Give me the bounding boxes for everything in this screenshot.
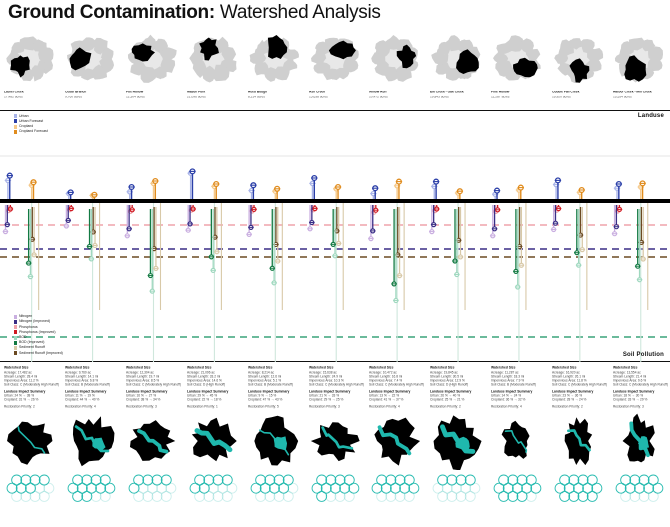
watershed-shape-cell[interactable] [183,412,244,470]
watershed-shape-cell[interactable] [305,412,366,470]
infographic-root: Ground Contamination: Watershed Analysis… [0,0,670,522]
dot-empty [255,491,265,501]
legend-swatch [14,114,17,118]
watershed-shape-cell[interactable] [0,412,61,470]
locator-map-label: Elk Creek - Oak Creek19,845 acres [430,91,492,99]
stat-inner: Watershed SizeAcreage: 15,638 acStream L… [309,366,369,409]
legend-swatch [14,130,17,134]
dot-empty [213,491,223,501]
stat-line: Cropland: 33 % → 29 % [613,398,670,402]
watershed-shape-cell[interactable] [122,412,183,470]
watershed-shape [426,412,487,470]
locator-map-label: Harbor Creek - Mill Creek13,554 acres [613,91,670,99]
dot-filled [578,491,588,501]
legend-label: Sediment Runoff (Improved) [19,351,63,355]
dot-empty [630,491,640,501]
locator-map [428,28,485,90]
stat-inner: Watershed SizeAcreage: 19,845 acStream L… [430,366,490,409]
locator-map-cell[interactable]: Elk Creek - Oak Creek19,845 acres [426,28,487,108]
dot-grid-cell[interactable] [487,470,548,522]
stat-line: Soil Class: C (Moderately High Runoff) [613,383,670,387]
legend-swatch [14,341,17,345]
dot-grid-cell[interactable] [0,470,61,522]
watershed-stat-block: Watershed SizeAcreage: 16,920 acStream L… [548,366,609,410]
watershed-shape-cell[interactable] [365,412,426,470]
watershed-stat-block: Watershed SizeAcreage: 9,760 acStream Le… [61,366,122,410]
locator-map [2,28,59,90]
dot-grid [426,470,487,522]
legend-label: BOD [19,336,27,340]
dot-grid-cell[interactable] [609,470,670,522]
stat-section-title: Landuse Impact Summary [613,390,670,394]
watershed-shape [122,412,183,470]
dot-empty [204,491,214,501]
locator-map-cell[interactable]: Cedar Branch9,760 acres [61,28,122,108]
watershed-stat-block: Watershed SizeAcreage: 21,096 acStream L… [183,366,244,410]
dot-grid [548,470,609,522]
soil-pollution-section-label: Soil Pollution [623,352,664,358]
dot-empty [283,491,293,501]
legend-label: Urban [19,114,29,118]
dot-empty [143,491,153,501]
watershed-stat-block: Watershed SizeAcreage: 13,554 acStream L… [609,366,670,410]
dot-grid-row [0,470,670,522]
legend-item[interactable]: BOD (Improved) [14,340,53,345]
legend-swatch [14,119,17,123]
dot-empty [377,491,387,501]
dot-empty [152,491,162,501]
dot-empty [344,491,354,501]
legend-label: Nitrogen (Improved) [19,320,50,324]
stat-inner: Watershed SizeAcreage: 21,096 acStream L… [187,366,247,409]
locator-map-label: Ash Creek15,638 acres [309,91,371,99]
dot-filled [82,491,92,501]
watershed-shape-cell[interactable] [244,412,305,470]
locator-map-cell[interactable]: Willow Run10,472 acres [365,28,426,108]
dot-grid [122,470,183,522]
stat-section-title: Watershed Size [613,366,670,370]
dot-grid-cell[interactable] [61,470,122,522]
locator-map-cell[interactable]: Harbor Creek - Mill Creek13,554 acres [609,28,670,108]
watershed-stat-block: Watershed SizeAcreage: 17,482 acStream L… [0,366,61,410]
legend-swatch [14,320,17,324]
locator-map [185,28,242,90]
watershed-shape-cell[interactable] [426,412,487,470]
dot-grid [365,470,426,522]
chart-canvas [0,110,670,362]
legend-item[interactable]: Nitrogen (Improved) [14,320,53,325]
dot-grid [244,470,305,522]
dot-filled [560,491,570,501]
watershed-shape [244,412,305,470]
legend-label: Nitrogen [19,315,32,319]
dot-grid-cell[interactable] [548,470,609,522]
dot-grid [305,470,366,522]
dot-grid-cell[interactable] [183,470,244,522]
dot-empty [12,491,22,501]
locator-map [246,28,303,90]
watershed-shape-cell[interactable] [61,412,122,470]
dot-grid [0,470,61,522]
locator-map-label: Mason Fork21,096 acres [187,91,249,99]
dot-filled [316,491,326,501]
dot-empty [466,491,476,501]
locator-map-cell[interactable]: Mason Fork21,096 acres [183,28,244,108]
dot-empty [161,491,171,501]
locator-map [367,28,424,90]
dot-grid-cell[interactable] [122,470,183,522]
watershed-name: Harbor Creek - Mill Creek [613,91,670,95]
legend-label: Phosphorus [19,325,38,329]
watershed-shape [487,412,548,470]
locator-map-label: Willow Run10,472 acres [369,91,431,99]
dot-filled [569,491,579,501]
stat-line: Stream Length: 21.4 mi [613,375,670,379]
soil-pollution-legend: NitrogenNitrogen (Improved)PhosphorusPho… [14,315,53,357]
watershed-shape [365,412,426,470]
legend-label: Sediment Runoff [19,346,45,350]
locator-map-label: Fox Hollow12,304 acres [126,91,188,99]
legend-label: Cropland Forecast [19,130,48,134]
dot-empty [405,491,415,501]
legend-label: Phosphorus (Improved) [19,330,56,334]
stat-line: Restoration Priority: 3 [613,405,670,409]
locator-map-label: Pine Hollow11,287 acres [491,91,553,99]
watershed-shape [61,412,122,470]
legend-swatch [14,351,17,355]
watershed-outline [565,417,593,465]
page-title-bold: Ground Contamination: [8,2,215,23]
locator-maps-row: Laurel Creek17,482 acresCedar Branch9,76… [0,28,670,108]
dot-empty [264,491,274,501]
watershed-shape [183,412,244,470]
legend-swatch [14,330,17,334]
page-title-light: Watershed Analysis [215,2,381,23]
watershed-stat-block: Watershed SizeAcreage: 11,287 acStream L… [487,366,548,410]
locator-map-cell[interactable]: Pine Hollow11,287 acres [487,28,548,108]
dot-empty [527,491,537,501]
legend-item[interactable]: Phosphorus [14,325,53,330]
dot-empty [621,491,631,501]
dot-empty [639,491,649,501]
dot-grid [183,470,244,522]
watershed-shape [305,412,366,470]
dot-filled [499,491,509,501]
watershed-shape [0,412,61,470]
dot-empty [100,491,110,501]
watershed-stat-block: Watershed SizeAcreage: 12,304 acStream L… [122,366,183,410]
dot-filled [508,491,518,501]
legend-item[interactable]: Sediment Runoff [14,346,53,351]
dot-grid-cell[interactable] [426,470,487,522]
watershed-stat-block: Watershed SizeAcreage: 15,638 acStream L… [305,366,366,410]
locator-map [550,28,607,90]
watershed-stat-block: Watershed SizeAcreage: 10,472 acStream L… [365,366,426,410]
stat-inner: Watershed SizeAcreage: 17,482 acStream L… [4,366,64,409]
legend-label: Cropland [19,125,33,129]
dot-grid [609,470,670,522]
legend-swatch [14,325,17,329]
stat-inner: Watershed SizeAcreage: 13,554 acStream L… [613,366,670,409]
dot-empty [335,491,345,501]
watershed-stats-row: Watershed SizeAcreage: 17,482 acStream L… [0,364,670,410]
locator-map-label: Cobble Fall Creek16,920 acres [552,91,614,99]
legend-item[interactable]: Cropland [14,124,41,129]
dot-grid-cell[interactable] [244,470,305,522]
locator-map-cell[interactable]: Ash Creek15,638 acres [305,28,366,108]
dot-empty [648,491,658,501]
dot-filled [517,491,527,501]
chart-baseline-axis [0,199,670,203]
lollipop-chart-panel: Landuse Soil Pollution UrbanUrban Foreca… [0,110,670,362]
dot-grid [487,470,548,522]
locator-map [63,28,120,90]
locator-map-cell[interactable]: Fox Hollow12,304 acres [122,28,183,108]
legend-item[interactable]: Urban Forecast [14,119,41,124]
landuse-section-label: Landuse [638,113,664,119]
legend-label: BOD (Improved) [19,341,44,345]
locator-map [489,28,546,90]
legend-item[interactable]: Phosphorus (Improved) [14,330,53,335]
dot-empty [396,491,406,501]
dot-filled [73,491,83,501]
legend-swatch [14,336,17,340]
dot-filled [587,491,597,501]
locator-map [124,28,181,90]
locator-map-cell[interactable]: Laurel Creek17,482 acres [0,28,61,108]
locator-map-cell[interactable]: Reed Bough8,214 acres [244,28,305,108]
watershed-area: 13,554 acres [613,96,670,100]
dot-grid-cell[interactable] [305,470,366,522]
locator-map [307,28,364,90]
dot-empty [222,491,232,501]
stat-inner: Watershed SizeAcreage: 9,760 acStream Le… [65,366,125,409]
dot-empty [21,491,31,501]
locator-map-label: Reed Bough8,214 acres [248,91,310,99]
watershed-shape-cell[interactable] [487,412,548,470]
legend-item[interactable]: Urban [14,114,41,119]
legend-swatch [14,346,17,350]
legend-swatch [14,125,17,129]
dot-empty [386,491,396,501]
legend-swatch [14,315,17,319]
legend-item[interactable]: Sediment Runoff (Improved) [14,351,53,356]
dot-empty [438,491,448,501]
legend-item[interactable]: Cropland Forecast [14,130,41,135]
dot-empty [91,491,101,501]
landuse-legend: UrbanUrban ForecastCroplandCropland Fore… [14,114,41,135]
watershed-stat-block: Watershed SizeAcreage: 19,845 acStream L… [426,366,487,410]
stat-inner: Watershed SizeAcreage: 16,920 acStream L… [552,366,612,409]
dot-grid [61,470,122,522]
dot-empty [456,491,466,501]
locator-map-label: Laurel Creek17,482 acres [4,91,66,99]
watershed-shape [609,412,670,470]
legend-item[interactable]: BOD [14,335,53,340]
dot-empty [274,491,284,501]
locator-map-cell[interactable]: Cobble Fall Creek16,920 acres [548,28,609,108]
page-title: Ground Contamination: Watershed Analysis [8,2,662,26]
stat-line: Acreage: 13,554 ac [613,371,670,375]
dot-empty [39,491,49,501]
dot-empty [133,491,143,501]
watershed-shape-cell[interactable] [548,412,609,470]
dot-empty [447,491,457,501]
dot-empty [194,491,204,501]
dot-empty [30,491,40,501]
stat-inner: Watershed SizeAcreage: 10,472 acStream L… [369,366,429,409]
legend-label: Urban Forecast [19,120,43,124]
locator-map [611,28,668,90]
legend-item[interactable]: Nitrogen [14,315,53,320]
dot-empty [325,491,335,501]
watershed-stat-block: Watershed SizeAcreage: 8,214 acStream Le… [244,366,305,410]
watershed-shape-cell[interactable] [609,412,670,470]
stat-inner: Watershed SizeAcreage: 12,304 acStream L… [126,366,186,409]
stat-inner: Watershed SizeAcreage: 8,214 acStream Le… [248,366,308,409]
dot-grid-cell[interactable] [365,470,426,522]
watershed-shape [548,412,609,470]
stat-inner: Watershed SizeAcreage: 11,287 acStream L… [491,366,551,409]
watershed-shapes-row [0,412,670,470]
locator-map-label: Cedar Branch9,760 acres [65,91,127,99]
watershed-outline [7,422,52,465]
